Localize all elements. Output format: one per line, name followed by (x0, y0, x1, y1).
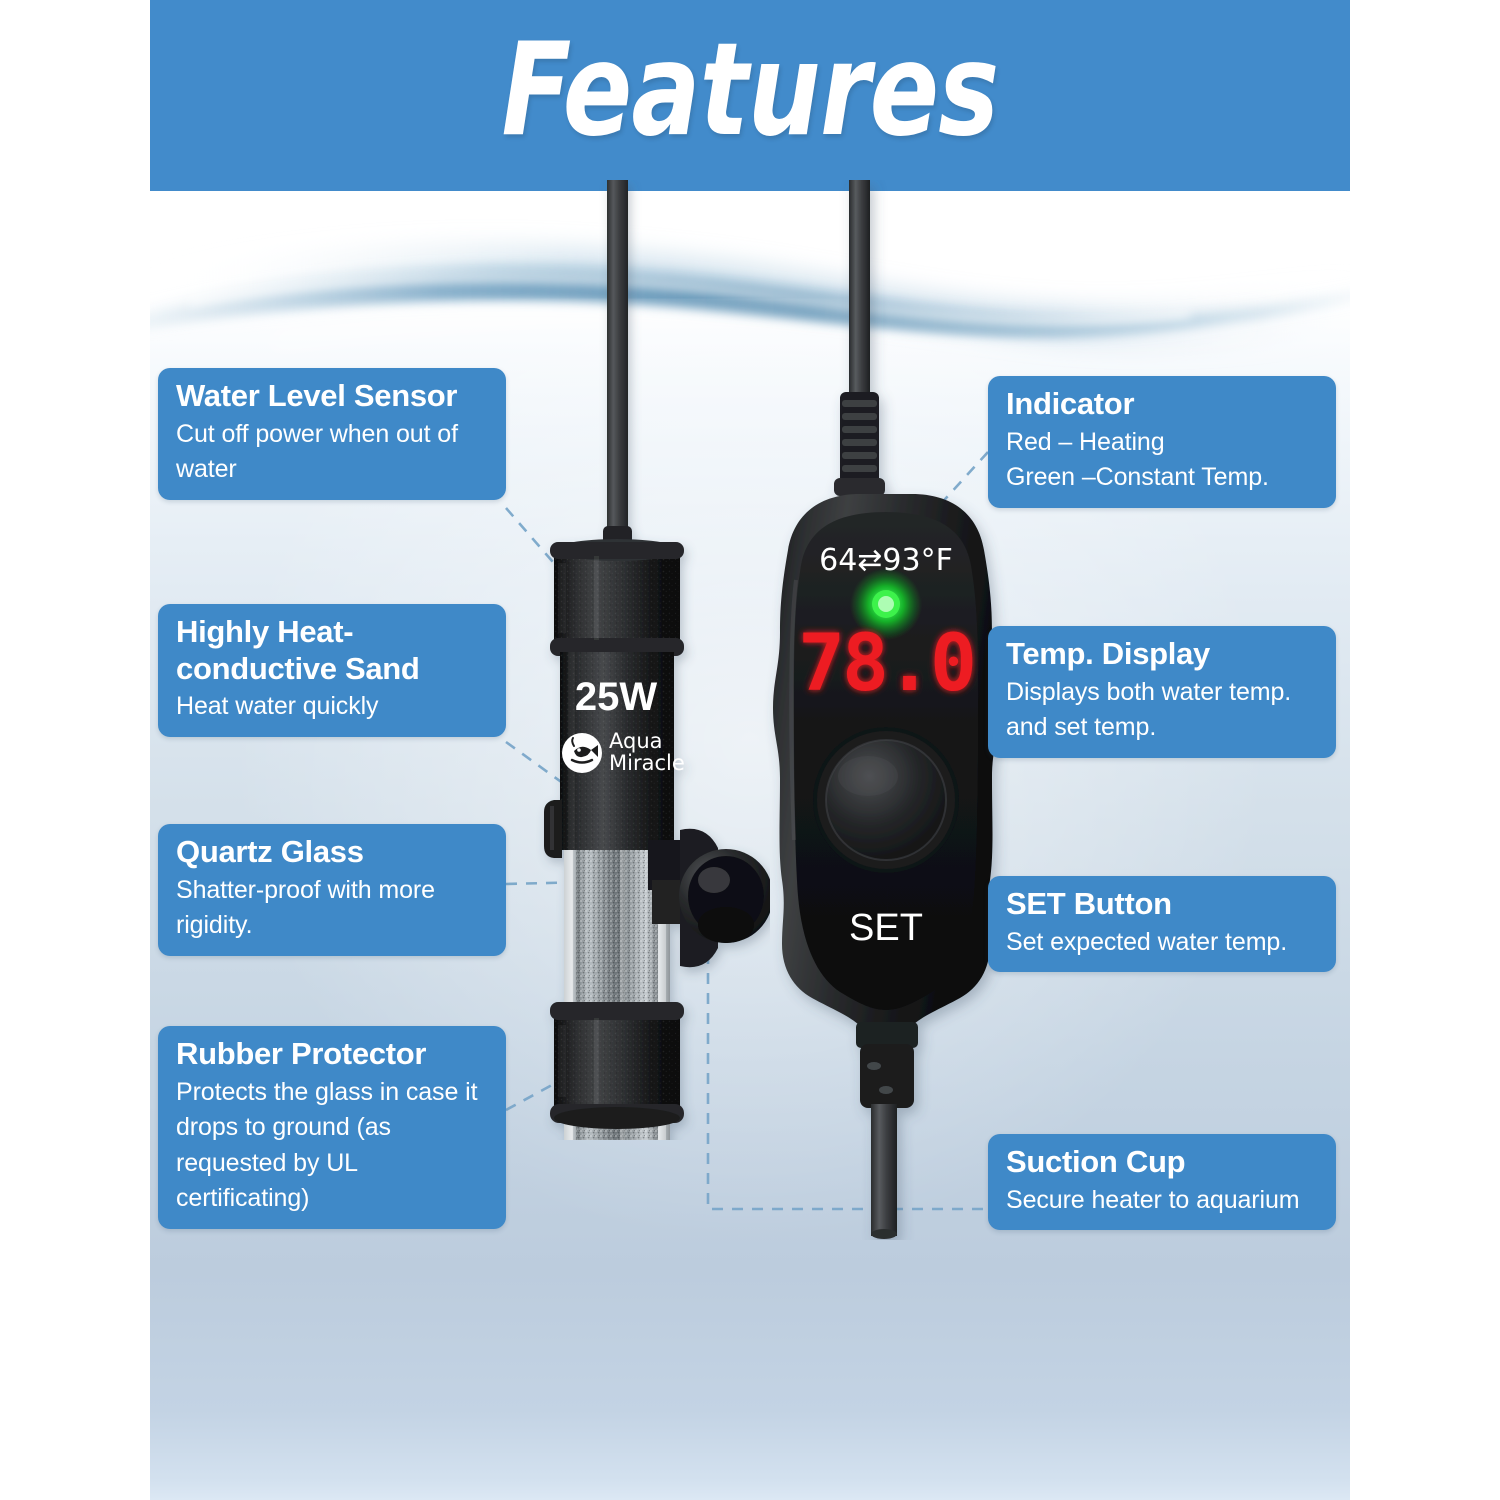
callout-body: Displays both water temp. and set temp. (1006, 675, 1322, 746)
heater-rod-product-image: 25W Aqua Miracle (530, 180, 770, 1140)
callout-title: Rubber Protector (176, 1036, 492, 1073)
callout-body: Secure heater to aquarium (1006, 1183, 1322, 1219)
callout-quartz-glass[interactable]: Quartz Glass Shatter-proof with more rig… (158, 824, 506, 956)
callout-body: Set expected water temp. (1006, 925, 1322, 961)
callout-suction-cup[interactable]: Suction Cup Secure heater to aquarium (988, 1134, 1336, 1230)
callout-title: Indicator (1006, 386, 1322, 423)
callout-body: Heat water quickly (176, 689, 492, 725)
callout-body: Shatter-proof with more rigidity. (176, 873, 492, 944)
features-infographic: Features (0, 0, 1500, 1500)
callout-title: SET Button (1006, 886, 1322, 923)
callout-title: Water Level Sensor (176, 378, 492, 415)
callout-title: Temp. Display (1006, 636, 1322, 673)
callout-water-level-sensor[interactable]: Water Level Sensor Cut off power when ou… (158, 368, 506, 500)
brand-name-line1: Aqua (609, 729, 663, 753)
brand-name-line2: Miracle (609, 751, 685, 775)
callout-title: Suction Cup (1006, 1144, 1322, 1181)
callout-indicator[interactable]: Indicator Red – Heating Green –Constant … (988, 376, 1336, 508)
callout-body: Cut off power when out of water (176, 417, 492, 488)
temperature-controller-product-image: 64⇄93°F 78.0 SET (760, 180, 1010, 1240)
callout-body: Red – Heating Green –Constant Temp. (1006, 425, 1322, 496)
svg-text:78.0: 78.0 (798, 619, 974, 709)
callout-body: Protects the glass in case it drops to g… (176, 1075, 492, 1217)
page-title: Features (270, 0, 1230, 191)
callout-title: Highly Heat-conductive Sand (176, 614, 492, 687)
seven-segment-temperature-display: 78.0 (798, 619, 974, 709)
callout-temp-display[interactable]: Temp. Display Displays both water temp. … (988, 626, 1336, 758)
callout-heat-conductive-sand[interactable]: Highly Heat-conductive Sand Heat water q… (158, 604, 506, 737)
callout-set-button[interactable]: SET Button Set expected water temp. (988, 876, 1336, 972)
heater-wattage-label: 25W (575, 675, 657, 719)
callout-rubber-protector[interactable]: Rubber Protector Protects the glass in c… (158, 1026, 506, 1229)
header-bar: Features (150, 0, 1350, 191)
callout-title: Quartz Glass (176, 834, 492, 871)
set-button-label: SET (849, 907, 923, 949)
